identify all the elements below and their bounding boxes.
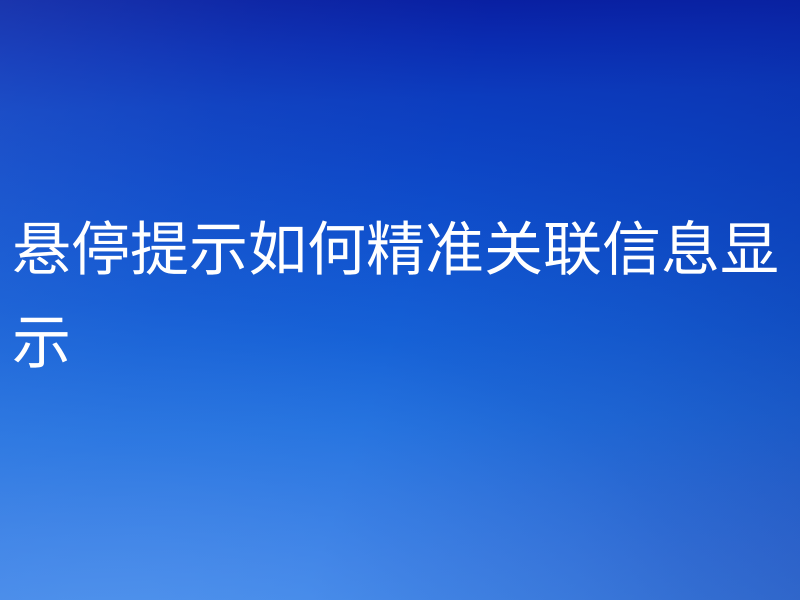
background-gradient-glow — [0, 0, 800, 600]
banner-root: 悬停提示如何精准关联信息显示 — [0, 0, 800, 600]
